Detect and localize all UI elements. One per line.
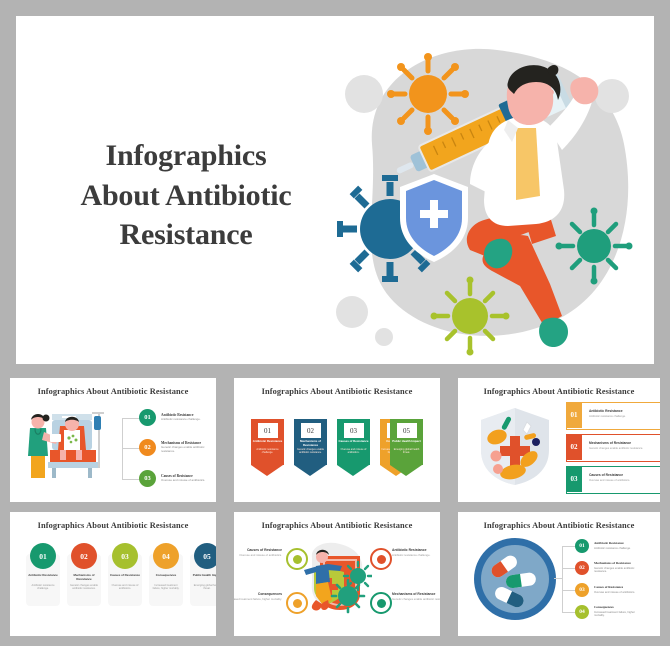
hero-slide[interactable]: Infographics About Antibiotic Resistance	[16, 16, 654, 364]
ribbon-heading: Public Health Impact	[391, 440, 422, 444]
outline-box-01[interactable]: 01 Antibiotic Resistance Antibiotic resi…	[566, 402, 660, 430]
connector-line	[122, 418, 123, 480]
box-heading: Causes of Resistance	[589, 473, 623, 477]
badge-02: 02	[139, 439, 156, 456]
box-subtext: Overuse and misuse of antibiotics.	[589, 479, 660, 483]
ribbon-subtext: Overuse and misuse of antibiotics.	[338, 448, 369, 454]
card-heading: Antibiotic Resistance	[28, 574, 58, 578]
ribbon-banner-05[interactable]: 05 Public Health Impact Emerging global …	[390, 419, 423, 476]
ribbon-banner-03[interactable]: 03 Causes of Resistance Overuse and misu…	[337, 419, 370, 476]
item-heading: Causes of Resistance	[594, 586, 646, 590]
gear-icon-antibiotic-resistance[interactable]	[370, 548, 392, 570]
list-item[interactable]: 03 Causes of Resistance Overuse and misu…	[575, 583, 646, 597]
orange-virus-icon	[387, 53, 469, 135]
item-subtext: Antibiotic resistance challenge.	[161, 418, 215, 422]
box-number: 01	[566, 402, 582, 428]
badge-02: 02	[575, 561, 589, 575]
ribbon-heading: Mechanisms of Resistance	[295, 440, 326, 447]
capsules-circle-illustration	[472, 536, 558, 622]
slide-thumbnail-2[interactable]: Infographics About Antibiotic Resistance…	[234, 378, 440, 502]
card-subtext: Emerging global health threat.	[192, 584, 216, 591]
card-heading: Public Health Impact	[192, 574, 216, 578]
slide-3-title: Infographics About Antibiotic Resistance	[458, 387, 660, 396]
list-item[interactable]: 02 Mechanisms of Resistance Genetic chan…	[139, 439, 215, 456]
outline-box-02[interactable]: 02 Mechanisms of Resistance Genetic chan…	[566, 434, 660, 462]
item-heading: Consequences	[594, 606, 646, 610]
slide-6-title: Infographics About Antibiotic Resistance	[458, 521, 660, 530]
gear-heading: Mechanisms of Resistance	[392, 592, 440, 596]
item-subtext: Genetic changes enable antibiotic resist…	[161, 446, 215, 453]
gray-dot	[336, 296, 368, 328]
box-number: 02	[566, 434, 582, 460]
ribbon-subtext: Antibiotic resistance challenge.	[252, 448, 283, 454]
shield-with-pills-illustration	[478, 406, 552, 486]
hero-title-line-3: Resistance	[40, 215, 332, 255]
card-subtext: Overuse and misuse of antibiotics.	[110, 584, 140, 591]
slide-thumbnail-6[interactable]: Infographics About Antibiotic Resistance	[458, 512, 660, 636]
gear-subtext: Antibiotic resistance challenge.	[392, 554, 440, 558]
slide-5-title: Infographics About Antibiotic Resistance	[234, 521, 440, 530]
ribbon-heading: Causes of Resistance	[338, 440, 369, 444]
connector-line	[562, 568, 576, 569]
hero-illustration	[312, 24, 652, 364]
card-subtext: Antibiotic resistance challenge.	[28, 584, 58, 591]
ribbon-subtext: Emerging global health threat.	[391, 448, 422, 454]
box-heading: Antibiotic Resistance	[589, 409, 623, 413]
card-04[interactable]: 04 Consequences Increased treatment fail…	[149, 554, 183, 606]
card-02[interactable]: 02 Mechanisms of Resistance Genetic chan…	[67, 554, 101, 606]
box-number: 03	[566, 466, 582, 492]
card-subtext: Genetic changes enable antibiotic resist…	[69, 584, 99, 591]
slide-4-title: Infographics About Antibiotic Resistance	[10, 521, 216, 530]
box-heading: Mechanisms of Resistance	[589, 441, 631, 445]
ribbon-banner-01[interactable]: 01 Antibiotic Resistance Antibiotic resi…	[251, 419, 284, 476]
list-item[interactable]: 01 Antibiotic Resistance Antibiotic resi…	[575, 539, 646, 553]
connector-line	[554, 578, 563, 579]
presentation-preview-page: Infographics About Antibiotic Resistance	[0, 0, 670, 646]
gray-dot	[595, 79, 629, 113]
outline-box-03[interactable]: 03 Causes of Resistance Overuse and misu…	[566, 466, 660, 494]
item-subtext: Overuse and misuse of antibiotics.	[594, 591, 646, 594]
connector-line	[562, 590, 576, 591]
card-03[interactable]: 03 Causes of Resistance Overuse and misu…	[108, 554, 142, 606]
gear-subtext: Increased treatment failure, higher mort…	[234, 598, 282, 602]
card-number: 01	[30, 543, 56, 569]
card-number: 04	[153, 543, 179, 569]
gear-heading: Antibiotic Resistance	[392, 548, 440, 552]
item-heading: Antibiotic Resistance	[594, 542, 646, 546]
slide-thumbnail-grid: Infographics About Antibiotic Resistance	[0, 374, 670, 646]
connector-line	[562, 546, 563, 612]
gray-dot	[345, 75, 383, 113]
gear-label-mechanisms: Mechanisms of Resistance Genetic changes…	[392, 592, 440, 601]
hospital-bed-illustration	[22, 404, 114, 480]
ribbon-heading: Antibiotic Resistance	[252, 440, 283, 444]
gear-label-consequences: Consequences Increased treatment failure…	[234, 592, 282, 601]
gear-heading: Causes of Resistance	[234, 548, 282, 552]
gear-heading: Consequences	[234, 592, 282, 596]
connector-line	[122, 418, 140, 419]
ribbon-number: 05	[397, 423, 417, 438]
card-number: 05	[194, 543, 216, 569]
gear-icon-causes[interactable]	[286, 548, 308, 570]
gear-subtext: Genetic changes enable antibiotic resist…	[392, 598, 440, 602]
connector-line	[562, 612, 576, 613]
card-01[interactable]: 01 Antibiotic Resistance Antibiotic resi…	[26, 554, 60, 606]
list-item[interactable]: 03 Causes of Resistance Overuse and misu…	[139, 470, 215, 487]
item-heading: Mechanisms of Resistance	[594, 562, 646, 566]
card-number: 03	[112, 543, 138, 569]
box-subtext: Antibiotic resistance challenge.	[589, 415, 660, 419]
badge-01: 01	[575, 539, 589, 553]
hero-title-line-2: About Antibiotic	[40, 176, 332, 216]
gear-icon-mechanisms[interactable]	[370, 592, 392, 614]
slide-1-title: Infographics About Antibiotic Resistance	[10, 387, 216, 396]
badge-03: 03	[139, 470, 156, 487]
gear-label-antibiotic-resistance: Antibiotic Resistance Antibiotic resista…	[392, 548, 440, 557]
list-item[interactable]: 02 Mechanisms of Resistance Genetic chan…	[575, 561, 646, 575]
card-05[interactable]: 05 Public Health Impact Emerging global …	[190, 554, 216, 606]
hero-title: Infographics About Antibiotic Resistance	[40, 136, 332, 255]
gray-dot	[375, 328, 393, 346]
gear-subtext: Overuse and misuse of antibiotics.	[234, 554, 282, 558]
item-subtext: Antibiotic resistance challenge.	[594, 547, 646, 550]
badge-01: 01	[139, 409, 156, 426]
slide-2-title: Infographics About Antibiotic Resistance	[234, 387, 440, 396]
card-heading: Consequences	[151, 574, 181, 578]
slide-thumbnail-3[interactable]: Infographics About Antibiotic Resistance…	[458, 378, 660, 502]
item-subtext: Genetic changes enable antibiotic resist…	[594, 567, 646, 574]
ribbon-number: 02	[301, 423, 321, 438]
card-heading: Mechanisms of Resistance	[69, 574, 99, 581]
ribbon-subtext: Genetic changes enable antibiotic resist…	[295, 448, 326, 454]
list-item[interactable]: 01 Antibiotic Resistance Antibiotic resi…	[139, 409, 215, 426]
ribbon-number: 03	[344, 423, 364, 438]
connector-line	[122, 448, 140, 449]
box-subtext: Genetic changes enable antibiotic resist…	[589, 447, 660, 451]
badge-03: 03	[575, 583, 589, 597]
item-subtext: Overuse and misuse of antibiotics.	[161, 479, 215, 483]
ribbon-banner-02[interactable]: 02 Mechanisms of Resistance Genetic chan…	[294, 419, 327, 476]
card-subtext: Increased treatment failure, higher mort…	[151, 584, 181, 591]
list-item[interactable]: 04 Consequences Increased treatment fail…	[575, 605, 646, 619]
slide-thumbnail-1[interactable]: Infographics About Antibiotic Resistance	[10, 378, 216, 502]
gear-label-causes: Causes of Resistance Overuse and misuse …	[234, 548, 282, 557]
card-heading: Causes of Resistance	[110, 574, 140, 578]
card-number: 02	[71, 543, 97, 569]
ribbon-number: 01	[258, 423, 278, 438]
slide-thumbnail-5[interactable]: Infographics About Antibiotic Resistance	[234, 512, 440, 636]
connector-line	[122, 479, 140, 480]
item-subtext: Increased treatment failure, higher mort…	[594, 611, 646, 618]
slide-thumbnail-4[interactable]: Infographics About Antibiotic Resistance…	[10, 512, 216, 636]
badge-04: 04	[575, 605, 589, 619]
hero-title-line-1: Infographics	[40, 136, 332, 176]
connector-line	[562, 546, 576, 547]
gear-icon-consequences[interactable]	[286, 592, 308, 614]
person-shield-viruses-illustration	[302, 538, 372, 616]
